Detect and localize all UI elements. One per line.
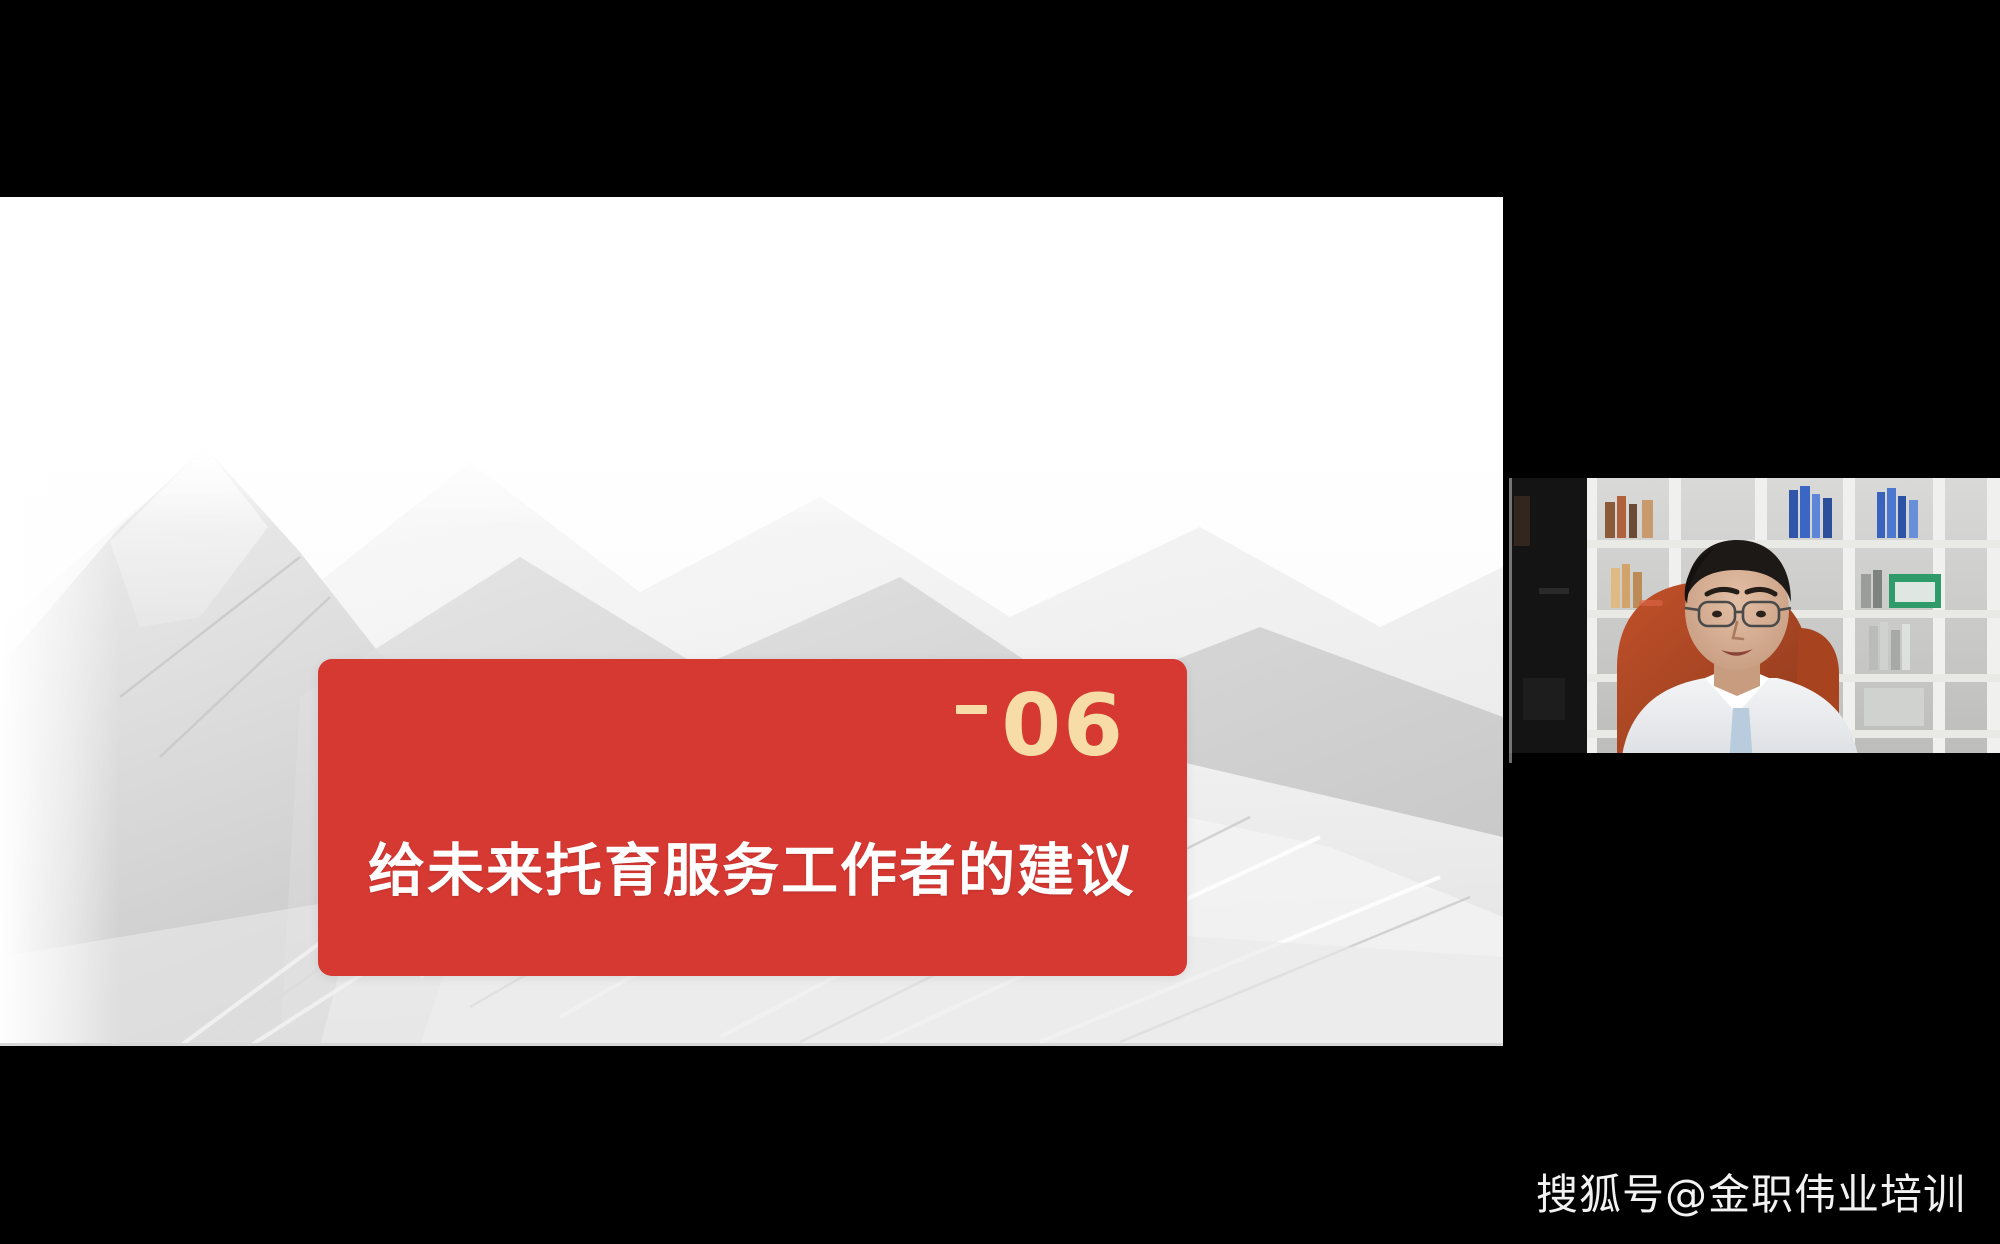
presenter-webcam-tile[interactable] <box>1509 478 2000 763</box>
section-title: 给未来托育服务工作者的建议 <box>368 825 1135 907</box>
section-banner: 06 给未来托育服务工作者的建议 <box>318 659 1187 976</box>
watermark-text: 搜狐号@金职伟业培训 <box>1536 1161 1966 1222</box>
screen-recording-frame: 06 给未来托育服务工作者的建议 <box>0 0 2000 1244</box>
shared-presentation-slide[interactable]: 06 给未来托育服务工作者的建议 <box>0 197 1503 1046</box>
section-number: 06 <box>1001 687 1125 766</box>
dash-mark-icon <box>956 705 987 714</box>
section-number-group: 06 <box>956 687 1125 766</box>
